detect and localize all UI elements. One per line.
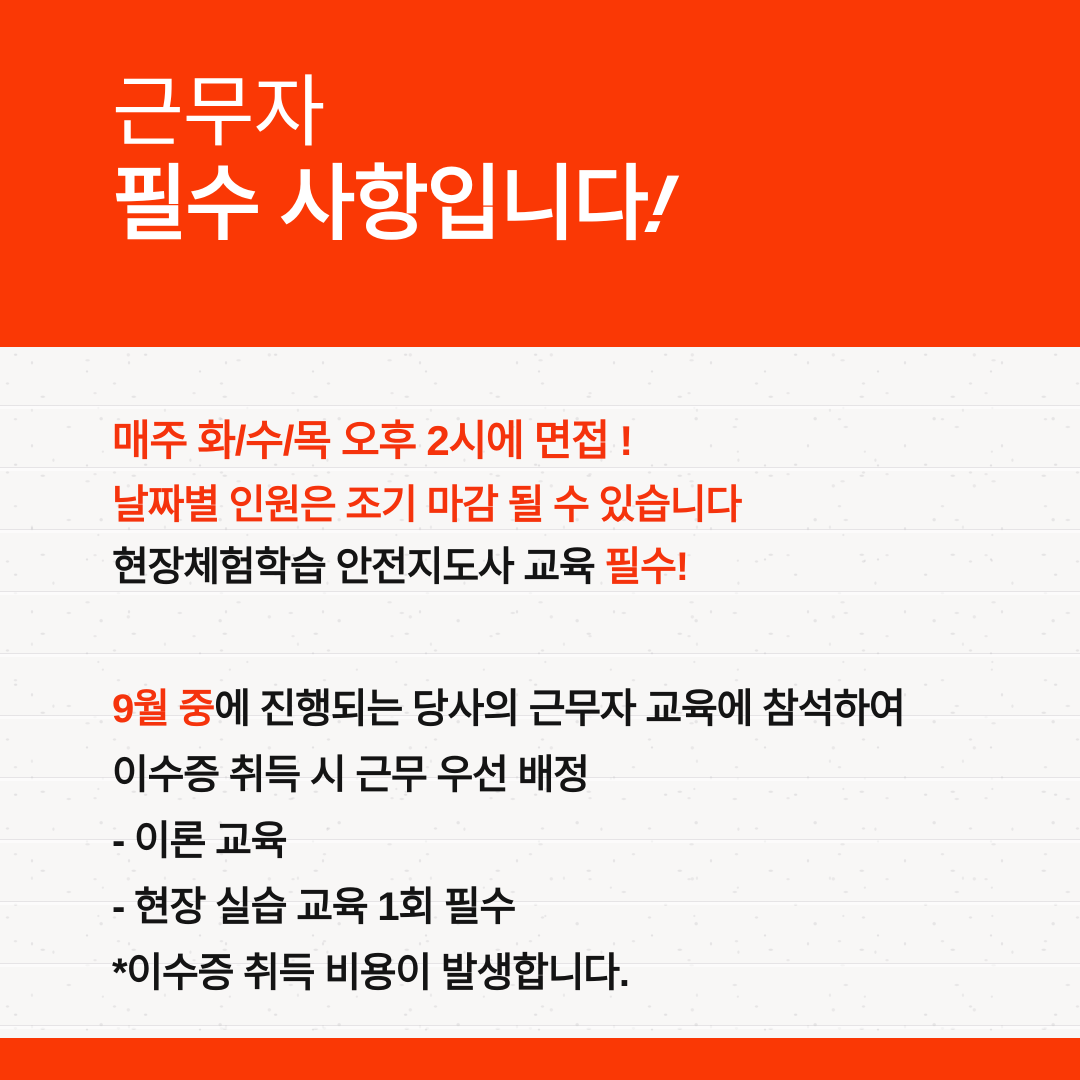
line-interview-schedule: 매주 화/수/목 오후 2시에 면접 ! (112, 408, 1012, 474)
section-spacer (112, 598, 1012, 676)
line-bullet-theory: - 이론 교육 (112, 808, 1012, 874)
line-priority-assignment-text: 이수증 취득 시 근무 우선 배정 (112, 753, 589, 797)
schedule-group: 매주 화/수/목 오후 2시에 면접 ! 날짜별 인원은 조기 마감 될 수 있… (112, 408, 1012, 598)
line-bullet-field-practice: - 현장 실습 교육 1회 필수 (112, 874, 1012, 940)
headline-line-1: 근무자 (112, 74, 672, 150)
line-bullet-field-practice-text: - 현장 실습 교육 1회 필수 (112, 885, 515, 929)
line-safety-training-required: 현장체험학습 안전지도사 교육 필수! (112, 536, 1012, 598)
poster-canvas: 근무자 필수 사항입니다! 매주 화/수/목 오후 2시에 면접 ! 날짜별 인… (0, 0, 1080, 1080)
line-cost-disclaimer-text: *이수증 취득 비용이 발생합니다. (112, 951, 629, 995)
line-safety-training-label: 현장체험학습 안전지도사 교육 (112, 545, 605, 589)
line-interview-schedule-text: 매주 화/수/목 오후 2시에 면접 ! (112, 417, 632, 464)
line-cost-disclaimer: *이수증 취득 비용이 발생합니다. (112, 940, 1012, 1006)
line-safety-training-emphasis: 필수! (605, 545, 688, 589)
headline-line-2-main: 필수 사항입니다 (112, 159, 647, 250)
headline-line-2: 필수 사항입니다! (112, 164, 672, 246)
bottom-orange-strip (0, 1038, 1080, 1080)
line-priority-assignment: 이수증 취득 시 근무 우선 배정 (112, 742, 1012, 808)
training-group: 9월 중에 진행되는 당사의 근무자 교육에 참석하여 이수증 취득 시 근무 … (112, 676, 1012, 1006)
line-september-training-text: 에 진행되는 당사의 근무자 교육에 참석하여 (214, 687, 904, 731)
line-capacity-notice-text: 날짜별 인원은 조기 마감 될 수 있습니다 (112, 483, 741, 527)
top-orange-banner: 근무자 필수 사항입니다! (0, 0, 1080, 347)
headline-block: 근무자 필수 사항입니다! (112, 74, 672, 246)
line-bullet-theory-text: - 이론 교육 (112, 819, 286, 863)
body-copy-block: 매주 화/수/목 오후 2시에 면접 ! 날짜별 인원은 조기 마감 될 수 있… (112, 408, 1012, 1006)
line-september-month-emphasis: 9월 중 (112, 687, 214, 731)
line-capacity-notice: 날짜별 인원은 조기 마감 될 수 있습니다 (112, 474, 1012, 536)
line-september-training: 9월 중에 진행되는 당사의 근무자 교육에 참석하여 (112, 676, 1012, 742)
